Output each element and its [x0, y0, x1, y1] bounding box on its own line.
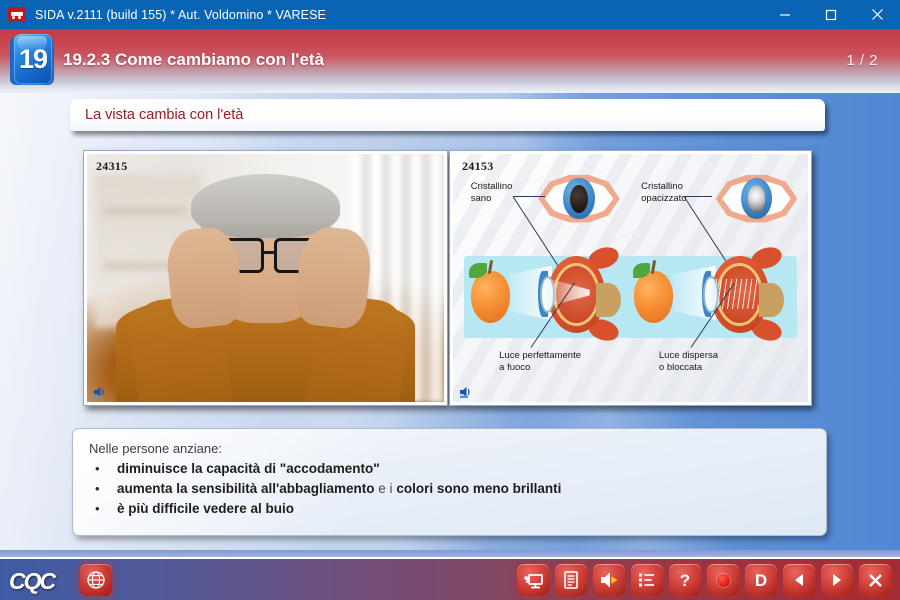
label-cristallino-opacizzato: Cristallino opacizzato [641, 181, 686, 205]
subtitle-text: La vista cambia con l'età [85, 107, 243, 123]
brand-logo-cqc: CQC [9, 568, 54, 595]
minimize-button[interactable] [762, 0, 808, 29]
bullet-text-2: aumenta la sensibilità all'abbagliamento… [117, 481, 561, 496]
media-code-left: 24315 [96, 159, 128, 174]
close-button[interactable] [854, 0, 900, 29]
page-indicator: 1 / 2 [846, 52, 878, 69]
eye-pupil-cloudy [748, 185, 766, 213]
truck-icon [8, 7, 26, 22]
eye-pupil-clear [570, 185, 588, 213]
bullet-marker: • [89, 501, 117, 516]
apple-right [634, 271, 673, 323]
previous-arrow-icon[interactable] [783, 564, 815, 596]
page-title: 19.2.3 Come cambiamo con l'età [63, 50, 324, 70]
window-title: SIDA v.2111 (build 155) * Aut. Voldomino… [35, 8, 326, 22]
label-luce-dispersa: Luce dispersa o bloccata [659, 350, 718, 374]
window-titlebar: SIDA v.2111 (build 155) * Aut. Voldomino… [0, 0, 900, 29]
close-x-icon[interactable] [859, 564, 891, 596]
label-cristallino-sano: Cristallino sano [471, 181, 513, 205]
help-question-icon[interactable]: ? [669, 564, 701, 596]
eye-cataract [716, 174, 798, 224]
list-icon[interactable] [631, 564, 663, 596]
presentation-screen-icon[interactable] [517, 564, 549, 596]
bullet-text-3: è più difficile vedere al buio [117, 501, 294, 516]
chapter-number: 19 [14, 34, 52, 84]
application-window: SIDA v.2111 (build 155) * Aut. Voldomino… [0, 0, 900, 600]
globe-icon[interactable] [80, 564, 112, 596]
bullet-row: • diminuisce la capacità di "accodamento… [89, 461, 808, 476]
subtitle-panel: La vista cambia con l'età [70, 99, 825, 131]
audio-play-icon[interactable] [593, 564, 625, 596]
apple-body-left [471, 271, 510, 323]
record-dot-icon[interactable] [707, 564, 739, 596]
speaker-icon[interactable] [94, 385, 107, 397]
glasses-bridge [263, 251, 276, 254]
eye-cross-section-healthy [538, 256, 616, 333]
bullet-row: • è più difficile vedere al buio [89, 501, 808, 516]
next-arrow-icon[interactable] [821, 564, 853, 596]
leader-line-1 [513, 196, 545, 197]
letter-d-icon[interactable]: D [745, 564, 777, 596]
bullet-row: • aumenta la sensibilità all'abbagliamen… [89, 481, 808, 496]
record-dot [717, 574, 730, 587]
leader-line-3 [684, 196, 712, 197]
eye-healthy [538, 174, 620, 224]
media-frame-diagram[interactable]: Cristallino sano Cristallino opacizzato [449, 150, 812, 406]
bullet-marker: • [89, 461, 117, 476]
lesson-header: 19 19.2.3 Come cambiamo con l'età 1 / 2 [0, 29, 900, 93]
diagram-eye-lens-cataract: Cristallino sano Cristallino opacizzato [453, 154, 808, 402]
maximize-button[interactable] [808, 0, 854, 29]
bullet-marker: • [89, 481, 117, 496]
bullet-text-1: diminuisce la capacità di "accodamento" [117, 461, 380, 476]
action-toolbar: ? D [517, 564, 891, 596]
bottom-toolbar: CQC [0, 550, 900, 600]
scattered-light-rays [716, 279, 758, 310]
eye-cross-section-cataract [702, 256, 780, 333]
text-lead: Nelle persone anziane: [89, 441, 808, 456]
speaker-icon[interactable] [460, 385, 473, 397]
photo-elderly-man-rubbing-eyes [87, 154, 444, 402]
photo-container: 24315 [87, 154, 444, 402]
optic-nerve-left [596, 283, 621, 317]
lesson-text-panel: Nelle persone anziane: • diminuisce la c… [72, 428, 827, 536]
document-icon[interactable] [555, 564, 587, 596]
chapter-badge: 19 [10, 34, 54, 86]
apple-body-right [634, 271, 673, 323]
label-luce-a-fuoco: Luce perfettamente a fuoco [499, 350, 581, 374]
diagram-container: Cristallino sano Cristallino opacizzato [453, 154, 808, 402]
apple-left [471, 271, 510, 323]
media-code-right: 24153 [462, 159, 494, 174]
media-frame-photo[interactable]: 24315 [83, 150, 448, 406]
